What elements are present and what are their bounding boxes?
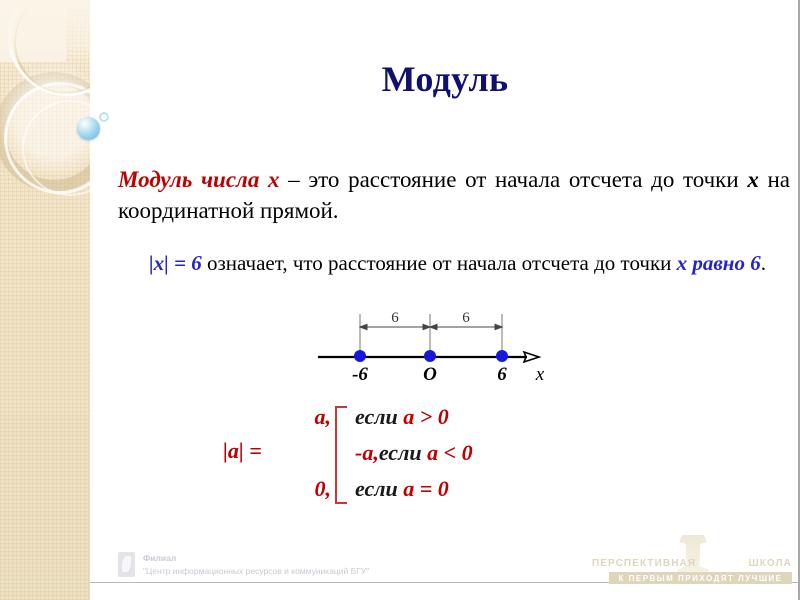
leaf-logo-icon (118, 552, 135, 577)
point-marker-origin (424, 350, 436, 362)
footer-brand-logo: ПЕРСПЕКТИВНАЯ ШКОЛА К ПЕРВЫМ ПРИХОДЯТ ЛУ… (592, 537, 792, 582)
footer-brand-tagline: К ПЕРВЫМ ПРИХОДЯТ ЛУЧШИЕ (619, 574, 783, 583)
dim-arrowhead-left-start (360, 324, 367, 329)
formula-left-hand-side: |a| = (223, 438, 262, 464)
footer-brand-word-left: ПЕРСПЕКТИВНАЯ (592, 558, 696, 569)
footer-brand-word-right: ШКОЛА (749, 558, 792, 569)
formula-case1-word: если (355, 404, 403, 429)
example-middle: означает, что расстояние от начала отсче… (202, 251, 677, 275)
footer-brand-tagline-bar: К ПЕРВЫМ ПРИХОДЯТ ЛУЧШИЕ (609, 572, 792, 584)
example-paragraph: |x| = 6 означает, что расстояние от нача… (130, 250, 785, 277)
definition-variable: х (747, 167, 759, 192)
example-expression: |x| = 6 (149, 251, 202, 275)
dimension-arrows (360, 324, 502, 329)
example-tail: х равно 6 (677, 251, 761, 275)
example-period: . (761, 251, 766, 275)
formula-case3-condition: если a = 0 (355, 476, 449, 502)
formula-case3-value: 0, (213, 476, 331, 502)
footer-organization-logo: Филиал "Центр информационных ресурсов и … (118, 552, 369, 577)
point-marker-minus6 (354, 350, 366, 362)
decorative-sphere-icon (77, 117, 100, 140)
tower-logo-icon (670, 535, 716, 575)
presentation-slide: Модуль Модуль числа х – это расстояние о… (0, 0, 800, 600)
number-line-diagram: 6 6 -6 O 6 x (305, 308, 555, 386)
formula-case1-condition: если a > 0 (355, 404, 449, 430)
formula-case2-word: если (379, 440, 427, 465)
point-label-6: 6 (497, 364, 507, 385)
footer-organization-text: Филиал "Центр информационных ресурсов и … (143, 552, 369, 577)
definition-dash: – (280, 167, 309, 192)
decorative-small-ring-icon (99, 112, 109, 122)
dimension-label-left: 6 (391, 310, 399, 326)
definition-lead: Модуль числа х (118, 167, 280, 192)
formula-bracket-icon (335, 406, 347, 504)
formula-case3-expr: a = 0 (403, 476, 449, 501)
formula-case2-negative: -a, (355, 440, 379, 465)
footer-org-line2: "Центр информационных ресурсов и коммуни… (143, 565, 369, 577)
definition-paragraph: Модуль числа х – это расстояние от начал… (118, 165, 790, 226)
formula-case3-word: если (355, 476, 403, 501)
formula-case2-condition: -a,если a < 0 (355, 440, 473, 466)
decorative-sidebar (0, 0, 90, 600)
definition-rest-a: это расстояние от начала отсчета до точк… (308, 167, 747, 192)
point-marker-6 (496, 350, 508, 362)
sidebar-top-fade (0, 0, 90, 66)
dim-arrowhead-right-end (495, 324, 502, 329)
footer-org-line1: Филиал (143, 552, 369, 564)
formula-case1-expr: a > 0 (403, 404, 449, 429)
footer-brand-words: ПЕРСПЕКТИВНАЯ ШКОЛА (592, 558, 792, 569)
dimension-label-right: 6 (462, 310, 470, 326)
point-label-origin: O (423, 364, 437, 385)
point-label-minus6: -6 (352, 364, 368, 385)
formula-case1-value: a, (213, 404, 331, 430)
dim-arrowhead-right-start (430, 324, 437, 329)
axis-label-x: x (535, 364, 545, 385)
formula-case2-expr: a < 0 (427, 440, 473, 465)
page-title: Модуль (90, 58, 800, 100)
piecewise-formula: |a| = a, если a > 0 -a,если a < 0 0, есл… (205, 402, 625, 508)
axis-arrowhead-icon (524, 352, 539, 362)
